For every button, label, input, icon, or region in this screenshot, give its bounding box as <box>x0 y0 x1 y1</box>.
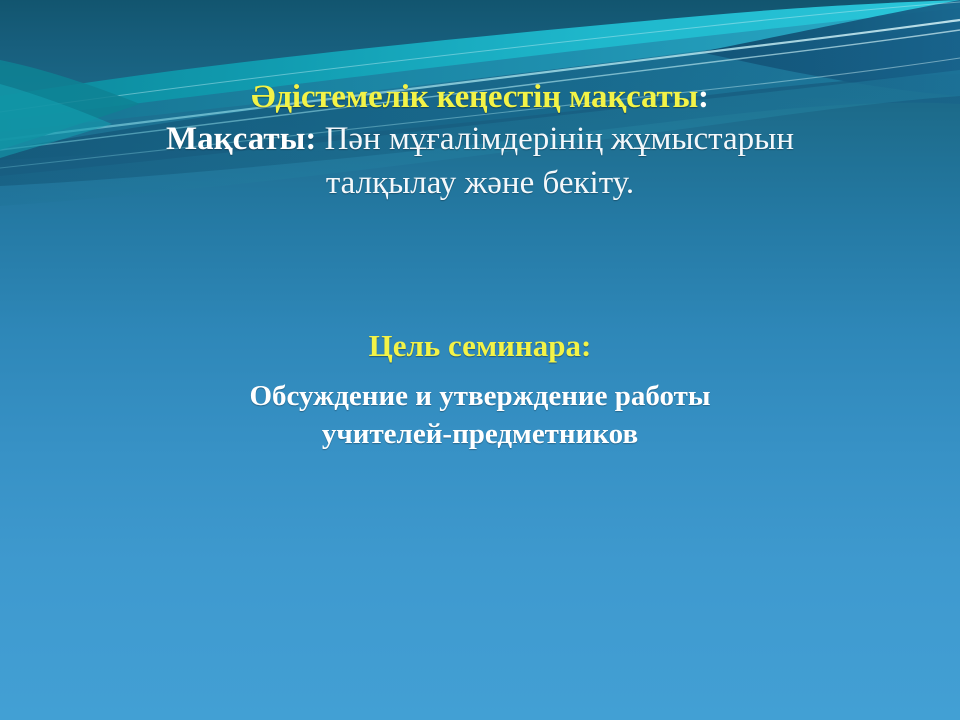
kazakh-title-line: Әдістемелік кеңестің мақсаты: <box>40 76 920 118</box>
russian-body-line-2: учителей-предметников <box>40 416 920 454</box>
slide-text-content: Әдістемелік кеңестің мақсаты: Мақсаты: П… <box>0 0 960 720</box>
presentation-slide: Әдістемелік кеңестің мақсаты: Мақсаты: П… <box>0 0 960 720</box>
kazakh-text-block: Әдістемелік кеңестің мақсаты: Мақсаты: П… <box>40 76 920 206</box>
kazakh-body-line-2: талқылау және бекіту. <box>40 162 920 206</box>
russian-body-line-1: Обсуждение и утверждение работы <box>40 378 920 416</box>
kazakh-body-lead: Мақсаты: <box>166 121 316 157</box>
russian-body: Обсуждение и утверждение работы учителей… <box>40 378 920 453</box>
kazakh-title-colon: : <box>698 79 709 115</box>
kazakh-body-rest: Пән мұғалімдерінің жұмыстарын <box>316 121 794 157</box>
russian-text-block: Цель семинара: Обсуждение и утверждение … <box>40 327 920 454</box>
kazakh-title-highlight: Әдістемелік кеңестің мақсаты <box>251 79 698 115</box>
kazakh-body-line-1: Мақсаты: Пән мұғалімдерінің жұмыстарын <box>40 118 920 162</box>
russian-heading: Цель семинара: <box>40 327 920 364</box>
